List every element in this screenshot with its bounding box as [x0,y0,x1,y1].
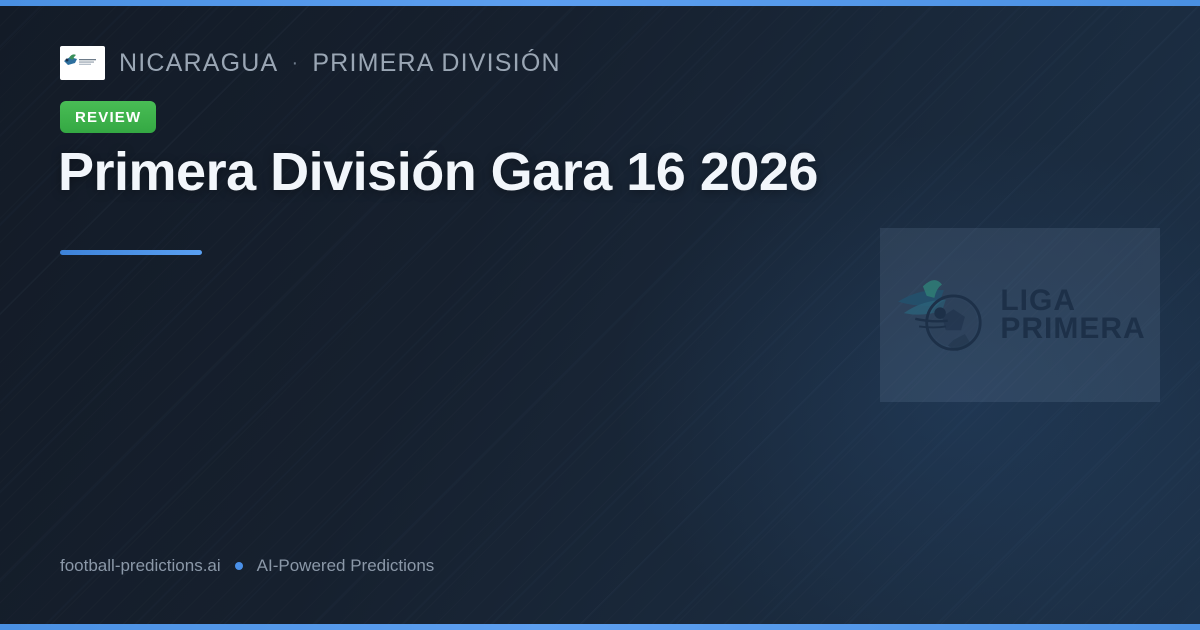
footer: football-predictions.ai AI-Powered Predi… [60,556,434,576]
breadcrumb-text: NICARAGUA · PRIMERA DIVISIÓN [119,49,561,78]
league-wordmark-line1: LIGA [1000,287,1145,315]
share-card: NICARAGUA · PRIMERA DIVISIÓN REVIEW Prim… [0,0,1200,630]
breadcrumb-competition: PRIMERA DIVISIÓN [312,49,560,78]
league-wordmark: LIGA PRIMERA [1000,287,1145,343]
country-flag-logo [60,46,105,80]
league-wordmark-line2: PRIMERA [1000,315,1145,343]
breadcrumb-country: NICARAGUA [119,49,278,78]
footer-site-name: football-predictions.ai [60,556,221,576]
page-title: Primera División Gara 16 2026 [58,142,878,202]
liga-primera-ball-emblem-icon [894,273,990,357]
card-content: NICARAGUA · PRIMERA DIVISIÓN REVIEW Prim… [0,0,1200,630]
league-logo-panel: LIGA PRIMERA [880,228,1160,402]
breadcrumb-separator-dot: · [291,53,299,73]
status-badge: REVIEW [60,101,156,133]
footer-separator-dot-icon [235,562,243,570]
footer-tagline: AI-Powered Predictions [257,556,435,576]
nicaragua-federation-crest-icon [60,48,105,78]
breadcrumb: NICARAGUA · PRIMERA DIVISIÓN [60,46,561,80]
title-accent-rule [60,250,202,255]
status-badge-label: REVIEW [75,109,141,126]
